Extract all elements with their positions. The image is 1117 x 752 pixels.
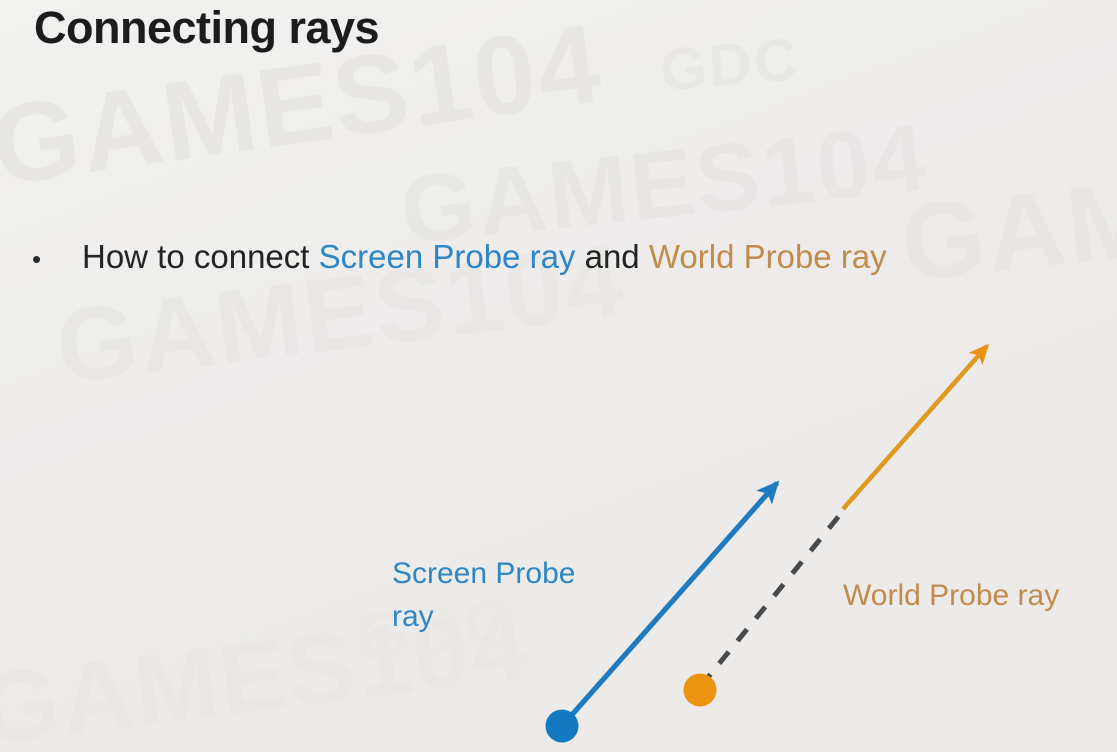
ray-diagram bbox=[0, 0, 1117, 752]
slide-canvas: GAMES104 GAMES104 GAMES104 GAMES104 GAME… bbox=[0, 0, 1117, 752]
screen-probe-ray-label: Screen Probe ray bbox=[392, 553, 632, 638]
world-probe-origin-dot bbox=[684, 674, 717, 707]
screen-probe-ray-label-line1: Screen Probe bbox=[392, 553, 632, 596]
screen-probe-ray-label-line2: ray bbox=[392, 596, 632, 639]
connector-dashed-line bbox=[701, 511, 843, 686]
world-probe-ray-label: World Probe ray bbox=[843, 575, 1059, 618]
screen-probe-origin-dot bbox=[546, 710, 579, 743]
world-probe-ray-arrow bbox=[843, 346, 987, 509]
